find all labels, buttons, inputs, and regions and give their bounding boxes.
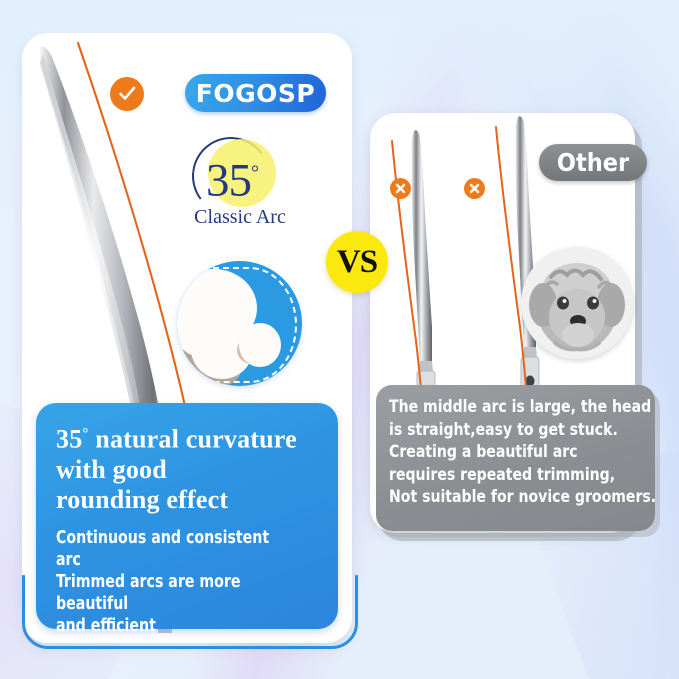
left-caption-subtext: Continuous and consistent arc Trimmed ar…	[56, 527, 294, 637]
dog-result-photo	[521, 247, 633, 359]
caption-line: Not suitable for novice groomers.	[389, 486, 623, 509]
arc-emblem-label: Classic Arc	[170, 206, 310, 229]
brand-badge-label: FOGOSP	[196, 79, 315, 108]
vs-label: VS	[337, 244, 377, 281]
caption-sub-line: Continuous and consistent arc	[56, 527, 294, 571]
heading-line-3: rounding effect	[56, 485, 228, 514]
vs-badge: VS	[326, 231, 388, 293]
check-circle-icon	[110, 77, 144, 111]
arc-trace-dashed-icon	[203, 267, 297, 383]
paw-result-photo	[177, 261, 302, 386]
x-glyph	[468, 182, 481, 195]
x-glyph	[394, 182, 407, 195]
caption-sub-line: and efficient	[56, 615, 294, 637]
left-comparison-card: FOGOSP 35° Classic Arc 35° natural curva…	[22, 33, 352, 643]
other-badge-label: Other	[557, 148, 629, 177]
infographic-canvas: FOGOSP 35° Classic Arc 35° natural curva…	[0, 0, 679, 679]
caption-line: Creating a beautiful arc	[389, 441, 623, 464]
poodle-face-illustration	[521, 247, 633, 359]
caption-sub-line: Trimmed arcs are more beautiful	[56, 571, 294, 615]
degree-symbol: °	[251, 162, 258, 184]
arc-degree-value: 35°	[206, 136, 306, 210]
other-badge[interactable]: Other	[539, 144, 647, 181]
heading-number: 35	[56, 425, 82, 454]
check-glyph	[116, 83, 138, 105]
right-comparison-card: Other The mid	[370, 113, 635, 533]
left-caption-heading: 35° natural curvature with good rounding…	[56, 419, 320, 515]
caption-line: requires repeated trimming,	[389, 464, 623, 487]
x-circle-icon	[464, 178, 485, 199]
x-circle-icon	[390, 178, 411, 199]
left-caption-panel: 35° natural curvature with good rounding…	[36, 403, 338, 629]
heading-rest: natural curvature	[89, 425, 297, 454]
caption-line: The middle arc is large, the head	[389, 396, 623, 419]
arc-emblem: 35° Classic Arc	[170, 134, 310, 252]
right-caption-panel: The middle arc is large, the head is str…	[376, 385, 655, 531]
caption-line: is straight,easy to get stuck.	[389, 419, 623, 442]
heading-line-2: with good	[56, 455, 167, 484]
arc-number: 35	[206, 155, 251, 207]
brand-badge[interactable]: FOGOSP	[185, 74, 326, 112]
